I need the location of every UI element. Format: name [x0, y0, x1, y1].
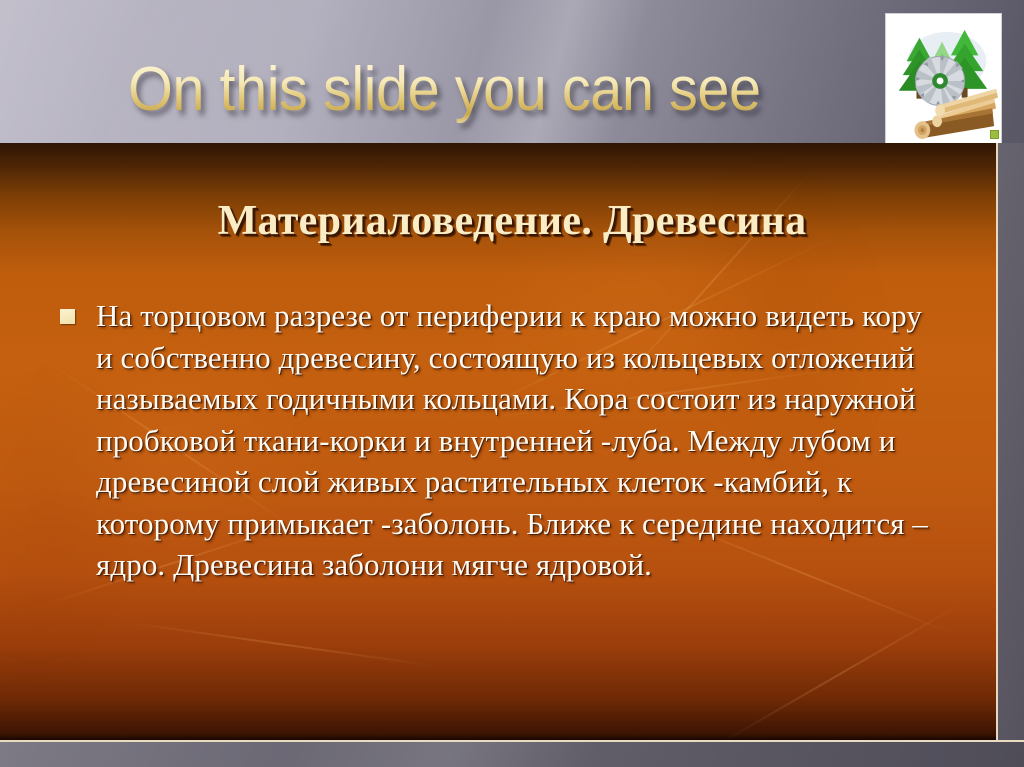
slide-header-band: On this slide you can see: [0, 0, 1024, 143]
leaf-vein: [718, 603, 961, 742]
bullet-paragraph-text: На торцовом разрезе от периферии к краю …: [96, 295, 940, 586]
forestry-logo-graphic: [886, 14, 1001, 144]
slide-footer-band: [0, 742, 1024, 767]
leaf-vein: [121, 621, 438, 668]
logo-green-tab: [990, 130, 999, 139]
presentation-slide: On this slide you can see: [0, 0, 1024, 767]
header-title: On this slide you can see: [128, 56, 761, 124]
circular-saw-blade: [915, 56, 964, 105]
slide-title: Материаловедение. Древесина: [0, 196, 1024, 246]
bullet-list-item: На торцовом разрезе от периферии к краю …: [60, 295, 940, 586]
square-bullet-icon: [60, 309, 75, 324]
forestry-logo: [885, 13, 1002, 145]
